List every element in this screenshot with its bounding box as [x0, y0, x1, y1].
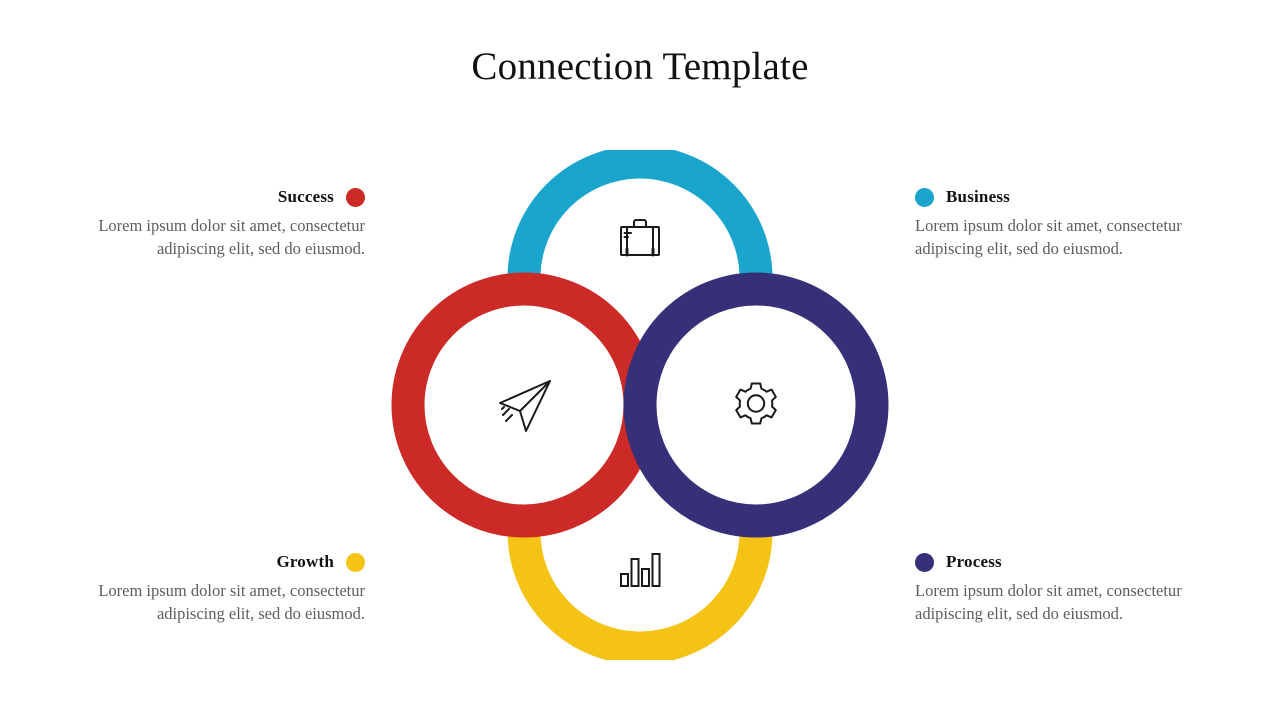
label-description-process: Lorem ipsum dolor sit amet, consectetur … — [915, 579, 1225, 626]
label-title-growth: Growth — [276, 552, 334, 572]
label-title-business: Business — [946, 187, 1010, 207]
briefcase-icon — [621, 220, 659, 255]
label-description-business: Lorem ipsum dolor sit amet, consectetur … — [915, 214, 1225, 261]
page-title: Connection Template — [0, 44, 1280, 91]
label-block-business[interactable]: Business Lorem ipsum dolor sit amet, con… — [915, 187, 1225, 261]
diagram-segment-process[interactable] — [640, 289, 872, 521]
label-title-process: Process — [946, 552, 1002, 572]
bar-chart-icon — [621, 554, 660, 586]
label-head-business: Business — [915, 187, 1225, 207]
label-block-growth[interactable]: Growth Lorem ipsum dolor sit amet, conse… — [55, 552, 365, 626]
legend-dot-success — [346, 188, 365, 207]
label-block-success[interactable]: Success Lorem ipsum dolor sit amet, cons… — [55, 187, 365, 261]
label-title-success: Success — [278, 187, 334, 207]
label-head-growth: Growth — [55, 552, 365, 572]
legend-dot-business — [915, 188, 934, 207]
label-description-growth: Lorem ipsum dolor sit amet, consectetur … — [55, 579, 365, 626]
connection-diagram — [390, 150, 890, 660]
diagram-segment-success[interactable] — [408, 289, 640, 521]
label-head-success: Success — [55, 187, 365, 207]
legend-dot-growth — [346, 553, 365, 572]
diagram-segment-growth[interactable] — [524, 532, 756, 648]
label-block-process[interactable]: Process Lorem ipsum dolor sit amet, cons… — [915, 552, 1225, 626]
legend-dot-process — [915, 553, 934, 572]
label-description-success: Lorem ipsum dolor sit amet, consectetur … — [55, 214, 365, 261]
label-head-process: Process — [915, 552, 1225, 572]
